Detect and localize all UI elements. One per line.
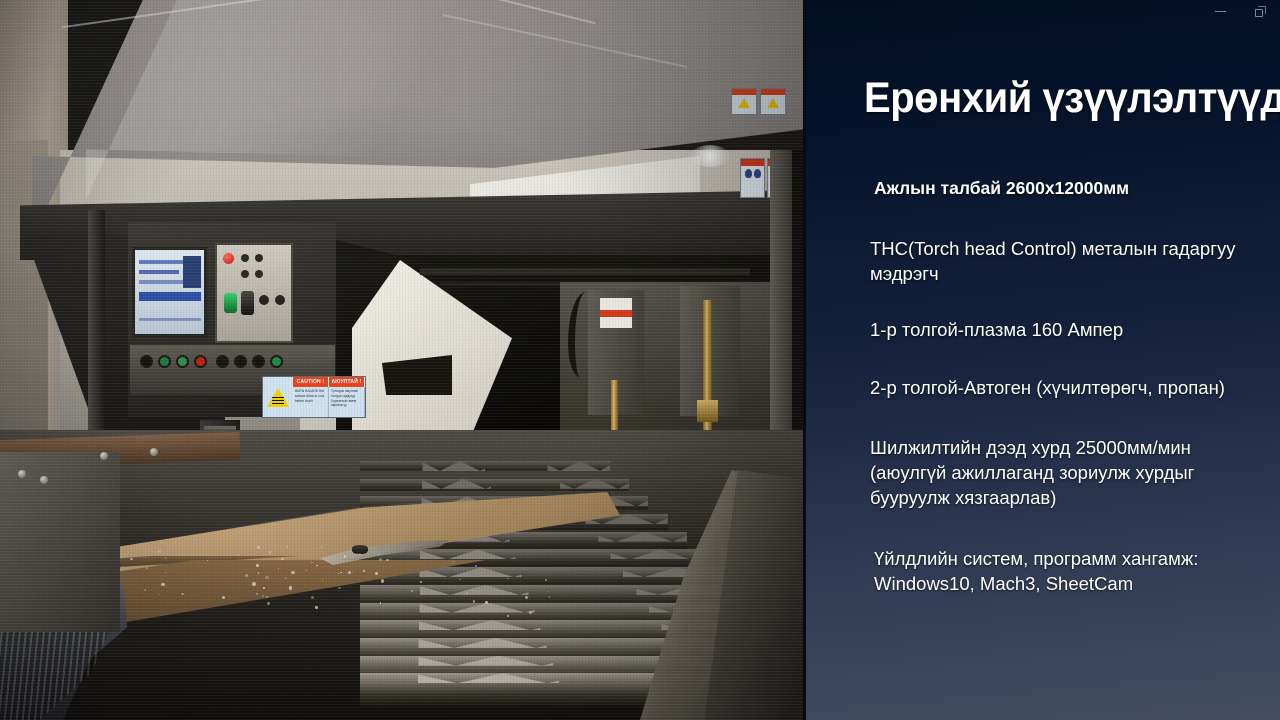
caution-body-en: BURN HAZARD Hot surface Allow to cool be… (293, 387, 329, 417)
selector-knob-1 (241, 254, 249, 262)
page-title: Ерөнхий үзүүлэлтүүд (864, 76, 1247, 121)
push-button-4 (194, 355, 207, 368)
restore-button[interactable] (1240, 0, 1280, 22)
push-button-2 (158, 355, 171, 368)
caution-label-en: CAUTION ! (293, 377, 329, 387)
slide-text-column: Ерөнхий үзүүлэлтүүд Ажлын талбай 2600x12… (812, 0, 1280, 720)
indicator-lamp-red (223, 253, 234, 264)
selector-knob-5 (259, 295, 269, 305)
frame-bolt (150, 448, 158, 456)
bullet-work-area: Ажлын талбай 2600x12000мм (874, 176, 1276, 201)
frame-bolt (18, 470, 26, 478)
torch-holder-block (697, 400, 718, 422)
push-button-1 (140, 355, 153, 368)
machine-photo: CAUTION ! АЮУЛТАЙ ! BURN HAZARD Hot surf… (0, 0, 806, 720)
bullet-thc-sensor: THC(Torch head Control) металын гадаргуу… (870, 236, 1272, 286)
frame-bolt (40, 476, 48, 484)
hmi-screen (132, 247, 207, 337)
interior-strip-1 (420, 268, 750, 275)
presentation-slide: CAUTION ! АЮУЛТАЙ ! BURN HAZARD Hot surf… (0, 0, 1280, 720)
bullet-max-speed: Шилжилтийн дээд хурд 25000мм/мин (аюулгү… (870, 435, 1272, 510)
stop-button-black (241, 291, 254, 315)
hood-specular-highlight (690, 145, 730, 167)
selector-knob-2 (255, 254, 263, 262)
window-controls (1188, 0, 1280, 22)
push-button-8 (270, 355, 283, 368)
caution-label: CAUTION ! АЮУЛТАЙ ! BURN HAZARD Hot surf… (262, 376, 366, 418)
bullet-software: Үйлдлийн систем, программ хангамж: Windo… (874, 546, 1276, 596)
caution-body-mn: Түлэгдэх аюултай Халуун гадаргуу Хүрэхээ… (329, 387, 365, 417)
warning-triangle-icon (263, 377, 293, 417)
push-button-7 (252, 355, 265, 368)
operator-button-panel (215, 243, 293, 343)
push-button-5 (216, 355, 229, 368)
frame-bolt (100, 452, 108, 460)
carriage-label (600, 298, 632, 328)
start-button-green (224, 293, 237, 313)
minimize-button[interactable] (1200, 0, 1240, 22)
caution-label-mn: АЮУЛТАЙ ! (329, 377, 365, 387)
push-button-3 (176, 355, 189, 368)
push-button-6 (234, 355, 247, 368)
bullet-head-2-oxyfuel: 2-р толгой-Автоген (хүчилтөрөгч, пропан) (870, 375, 1280, 400)
bullet-head-1-plasma: 1-р толгой-плазма 160 Ампер (870, 317, 1272, 342)
lower-frame-block (0, 452, 120, 632)
safety-label-hood-1 (731, 88, 757, 115)
selector-knob-4 (255, 270, 263, 278)
safety-label-hood-2 (760, 88, 786, 115)
selector-knob-6 (275, 295, 285, 305)
minimize-icon (1215, 11, 1226, 12)
restore-window-icon (1255, 6, 1266, 17)
selector-knob-3 (241, 270, 249, 278)
